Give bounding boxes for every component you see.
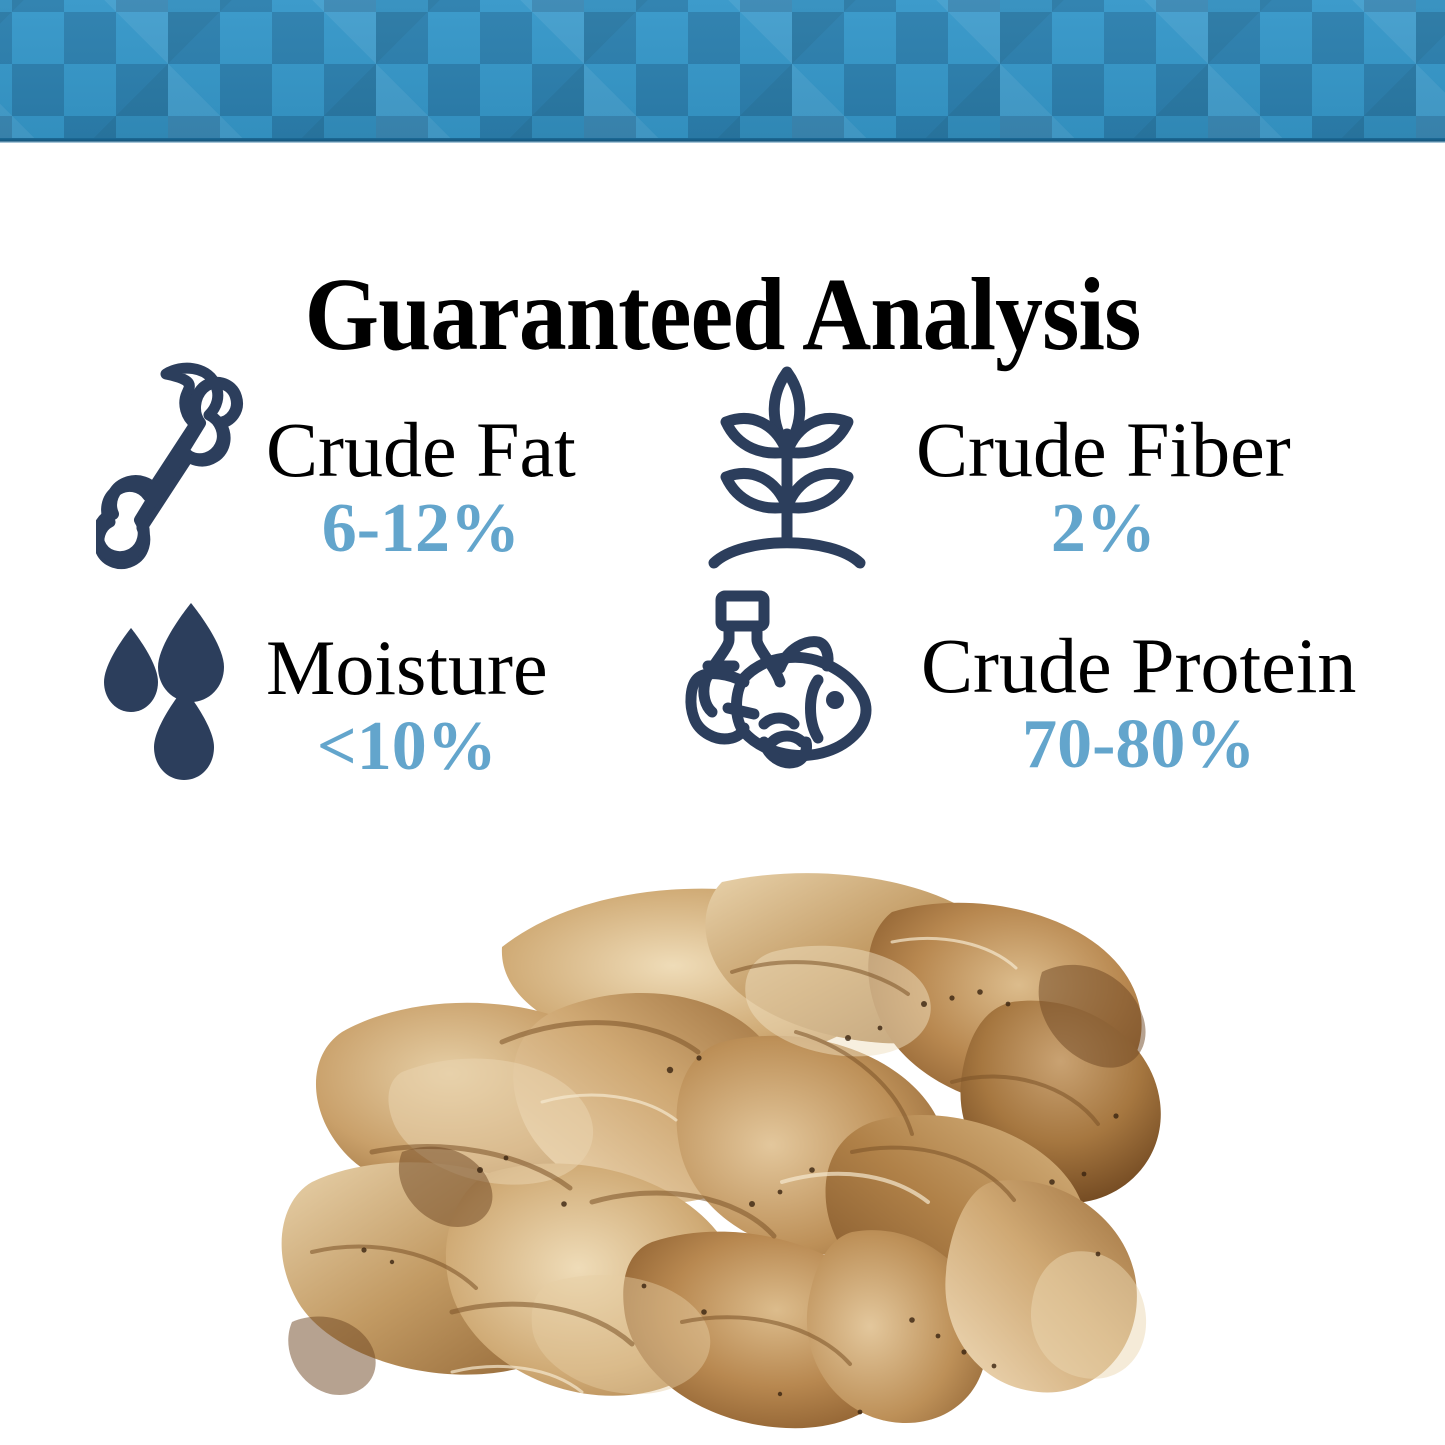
stat-crude-protein-text: Crude Protein 70-80% [921,590,1356,782]
stat-label: Crude Fat [266,412,576,488]
stat-value: 2% [1051,492,1156,566]
stat-value: 70-80% [1022,708,1255,782]
guaranteed-analysis-stats: Crude Fat 6-12% [0,352,1445,822]
stat-crude-fat: Crude Fat 6-12% [96,360,576,580]
bone-icon [96,360,244,580]
stat-label: Crude Fiber [916,412,1291,488]
stat-value: <10% [317,710,497,784]
stat-label: Moisture [266,630,548,706]
infographic-page: Guaranteed Analysis Crude Fat 6-12% [0,0,1445,1445]
stat-value: 6-12% [322,492,520,566]
stat-moisture-text: Moisture <10% [266,600,548,784]
header-bottom-edge [0,138,1445,143]
stat-moisture: Moisture <10% [96,600,548,790]
stat-label: Crude Protein [921,628,1356,704]
wheat-plant-icon [706,360,868,580]
stat-crude-protein: Crude Protein 70-80% [672,590,1356,782]
water-droplets-icon [96,600,236,790]
stat-crude-fiber: Crude Fiber 2% [706,360,1291,580]
header-sheen [0,0,1445,143]
stat-crude-fiber-text: Crude Fiber 2% [916,360,1291,566]
product-photo-dried-cow-ear-chews [252,852,1197,1432]
stat-crude-fat-text: Crude Fat 6-12% [266,360,576,566]
fish-oil-bottle-icon [672,590,887,775]
header-plaid-band [0,0,1445,143]
